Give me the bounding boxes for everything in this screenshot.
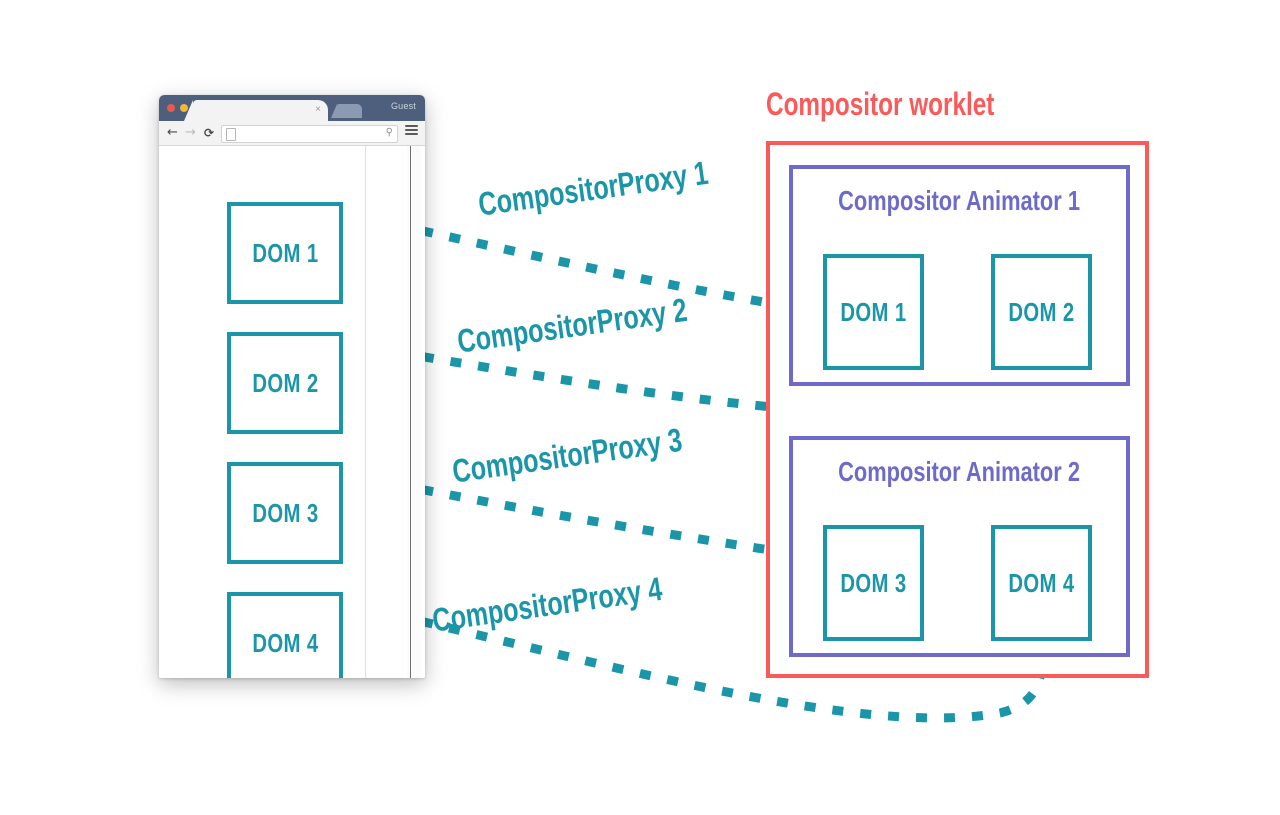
worklet-dom-4: DOM 4 (991, 525, 1092, 641)
proxy-label-4: CompositorProxy 4 (430, 560, 737, 640)
proxy-label-1: CompositorProxy 1 (476, 144, 783, 224)
worklet-dom-2-label: DOM 2 (1008, 297, 1074, 328)
compositor-animator-2-title-text: Compositor Animator 2 (839, 456, 1081, 488)
diagram-canvas: × Guest ← → ⟳ ⚲ (0, 0, 1280, 815)
compositor-animator-1-title: Compositor Animator 1 (793, 185, 1126, 217)
worklet-dom-3: DOM 3 (823, 525, 924, 641)
reload-icon[interactable]: ⟳ (204, 125, 214, 141)
worklet-dom-3-label: DOM 3 (840, 568, 906, 599)
search-icon[interactable]: ⚲ (386, 127, 393, 138)
worklet-dom-4-label: DOM 4 (1008, 568, 1074, 599)
hamburger-menu-icon[interactable] (405, 125, 418, 136)
worklet-dom-1: DOM 1 (823, 254, 924, 370)
proxy-label-3: CompositorProxy 3 (450, 411, 757, 491)
address-bar[interactable]: ⚲ (221, 125, 398, 143)
browser-dom-3: DOM 3 (227, 462, 343, 564)
proxy-label-4-text: CompositorProxy 4 (430, 570, 664, 640)
worklet-dom-2: DOM 2 (991, 254, 1092, 370)
browser-window[interactable]: × Guest ← → ⟳ ⚲ (159, 95, 425, 678)
browser-titlebar: × Guest (159, 95, 425, 121)
browser-dom-1: DOM 1 (227, 202, 343, 304)
back-icon[interactable]: ← (167, 125, 178, 141)
browser-toolbar: ← → ⟳ ⚲ (159, 121, 425, 146)
browser-viewport: DOM 1 DOM 2 DOM 3 DOM 4 (159, 146, 425, 678)
worklet-dom-1-label: DOM 1 (840, 297, 906, 328)
proxy-label-3-text: CompositorProxy 3 (450, 421, 684, 491)
menu-bar-2 (405, 129, 418, 131)
forward-icon[interactable]: → (185, 125, 196, 141)
compositor-animator-1-title-text: Compositor Animator 1 (839, 185, 1081, 217)
proxy-label-2-text: CompositorProxy 2 (455, 291, 689, 361)
browser-dom-4: DOM 4 (227, 592, 343, 678)
browser-dom-2-label: DOM 2 (252, 368, 318, 399)
browser-dom-2: DOM 2 (227, 332, 343, 434)
proxy-label-1-text: CompositorProxy 1 (476, 154, 710, 224)
menu-bar-3 (405, 133, 418, 135)
profile-label[interactable]: Guest (391, 101, 416, 111)
page-info-icon[interactable] (226, 128, 236, 141)
browser-dom-4-label: DOM 4 (252, 628, 318, 659)
page-edge-divider (410, 146, 411, 678)
browser-tab[interactable]: × (193, 100, 328, 121)
proxy-label-2: CompositorProxy 2 (455, 281, 762, 361)
browser-dom-3-label: DOM 3 (252, 498, 318, 529)
content-edge-divider (365, 146, 366, 678)
compositor-animator-2-title: Compositor Animator 2 (793, 456, 1126, 488)
new-tab-button[interactable] (337, 104, 362, 118)
browser-dom-1-label: DOM 1 (252, 238, 318, 269)
tab-close-icon[interactable]: × (315, 103, 321, 117)
menu-bar-1 (405, 125, 418, 127)
worklet-title: Compositor worklet (766, 86, 994, 123)
close-window-icon[interactable] (167, 104, 175, 112)
